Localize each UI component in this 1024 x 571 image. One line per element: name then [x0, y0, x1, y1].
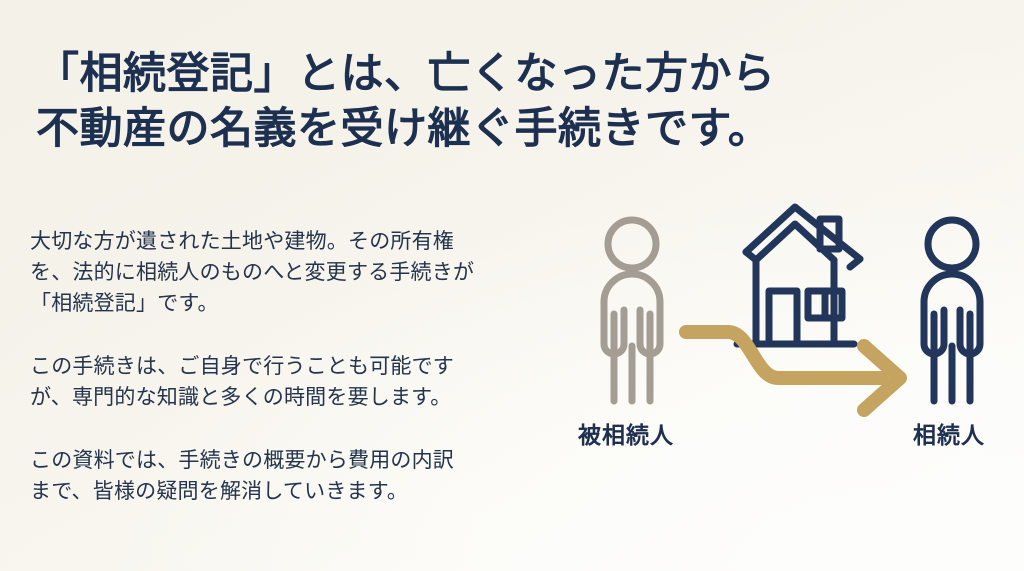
person-icon-heir	[924, 220, 980, 401]
person-icon-decedent	[604, 220, 660, 401]
paragraph-1-line-2: を、法的に相続人のものへと変更する手続きが	[30, 257, 545, 288]
slide-canvas: 「相続登記」とは、亡くなった方から 不動産の名義を受け継ぐ手続きです。 大切な方…	[0, 0, 1024, 571]
house-icon	[737, 207, 860, 344]
page-title: 「相続登記」とは、亡くなった方から 不動産の名義を受け継ぐ手続きです。	[36, 47, 816, 157]
body-paragraph-3: この資料では、手続きの概要から費用の内訳 まで、皆様の疑問を解消していきます。	[30, 445, 545, 507]
body-paragraph-1: 大切な方が遺された土地や建物。その所有権 を、法的に相続人のものへと変更する手続…	[30, 226, 545, 319]
label-decedent: 被相続人	[578, 416, 674, 450]
label-heir: 相続人	[913, 416, 985, 450]
paragraph-2-line-1: この手続きは、ご自身で行うことも可能です	[30, 351, 545, 382]
body-copy: 大切な方が遺された土地や建物。その所有権 を、法的に相続人のものへと変更する手続…	[30, 226, 545, 507]
body-paragraph-2: この手続きは、ご自身で行うことも可能です が、専門的な知識と多くの時間を要します…	[30, 351, 545, 413]
paragraph-3-line-2: まで、皆様の疑問を解消していきます。	[30, 476, 545, 507]
paragraph-2-line-2: が、専門的な知識と多くの時間を要します。	[30, 382, 545, 413]
paragraph-1-line-3: 「相続登記」です。	[30, 288, 545, 319]
headline-line-1: 「相続登記」とは、亡くなった方から	[36, 47, 816, 102]
paragraph-1-line-1: 大切な方が遺された土地や建物。その所有権	[30, 226, 545, 257]
paragraph-3-line-1: この資料では、手続きの概要から費用の内訳	[30, 445, 545, 476]
headline-line-2: 不動産の名義を受け継ぐ手続きです。	[36, 102, 816, 157]
